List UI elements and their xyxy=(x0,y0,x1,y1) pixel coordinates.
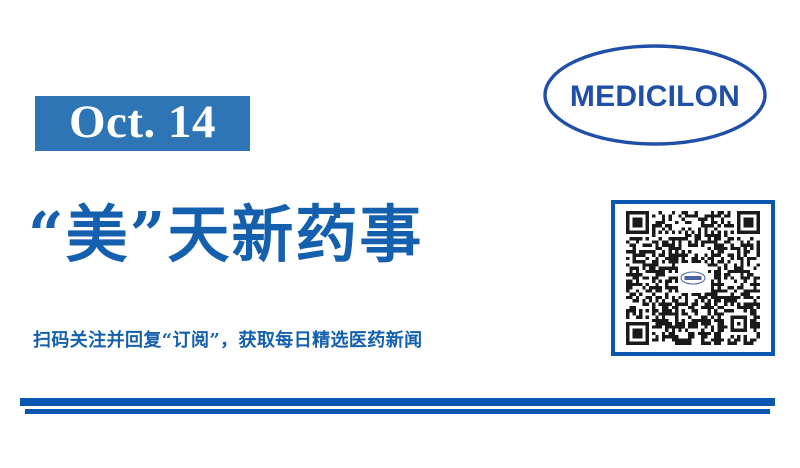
subtitle: 扫码关注并回复“订阅”，获取每日精选医药新闻 xyxy=(33,327,593,355)
qr-center-logo-wordmark xyxy=(685,276,702,280)
qr-center-logo xyxy=(678,263,708,293)
date-badge-label: Oct. 14 xyxy=(69,99,216,149)
news-banner: Oct. 14 MEDICILON “美”天新药事 扫码关注并回复“订阅”，获取… xyxy=(0,0,800,468)
date-badge: Oct. 14 xyxy=(35,96,250,151)
headline: “美”天新药事 xyxy=(28,186,598,284)
divider-thick xyxy=(20,398,775,406)
headline-text: “美”天新药事 xyxy=(28,204,423,266)
medicilon-logo: MEDICILON xyxy=(543,44,767,146)
subtitle-text: 扫码关注并回复“订阅”，获取每日精选医药新闻 xyxy=(33,331,423,351)
qr-code-frame xyxy=(611,200,775,356)
qr-code-canvas xyxy=(625,211,761,345)
divider-thin xyxy=(25,409,770,414)
logo-wordmark: MEDICILON xyxy=(570,80,740,113)
